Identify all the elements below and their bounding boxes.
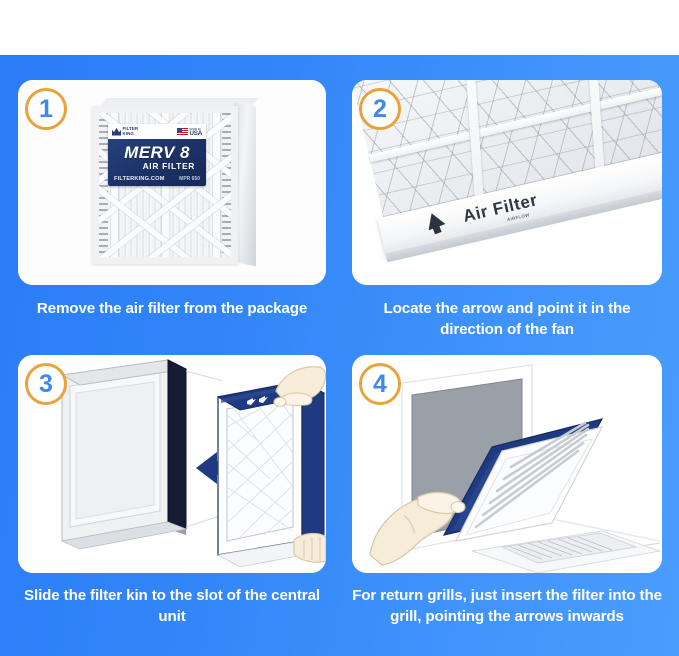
merv-8-filter-photo: FILTER KING MADE IN USA — [92, 98, 256, 266]
header-band — [0, 0, 679, 55]
website-text: FILTERKING.COM — [114, 176, 165, 182]
step-panel-2: Air Filter AIRFLOW 2 Locate the arrow an… — [352, 80, 662, 342]
filter-king-logo: FILTER KING — [112, 127, 138, 136]
step-panel-3: 3 Slide the filter kin to the slot of th… — [18, 355, 326, 635]
hand-lower-graphic — [294, 533, 326, 562]
step-1-caption: Remove the air filter from the package — [18, 298, 326, 319]
step-2-caption: Locate the arrow and point it in the dir… — [352, 298, 662, 340]
step-2-badge: 2 — [359, 88, 401, 130]
step-4-badge: 4 — [359, 363, 401, 405]
filter-product-label: FILTER KING MADE IN USA — [108, 124, 206, 186]
usa-flag-icon — [177, 128, 188, 135]
infographic-page: How to Install Your Air Filter — [0, 0, 679, 656]
filter-king-wordmark: FILTER KING — [123, 127, 139, 136]
grill-lower-panel — [472, 531, 660, 573]
brand-line-2: KING — [123, 132, 139, 136]
step-panel-4: 4 For return grills, just insert the fil… — [352, 355, 662, 645]
step-panel-1: FILTER KING MADE IN USA — [18, 80, 326, 342]
made-in-usa-badge: MADE IN USA — [177, 128, 202, 136]
central-unit-graphic — [62, 360, 186, 549]
mpr-rating-text: MPR 650 — [179, 176, 200, 182]
crown-icon — [112, 128, 121, 136]
filter-label-header: FILTER KING MADE IN USA — [108, 124, 206, 139]
air-filter-subtitle: AIR FILTER — [108, 161, 206, 171]
step-3-badge: 3 — [25, 363, 67, 405]
step-4-caption: For return grills, just insert the filte… — [352, 585, 662, 627]
usa-text: USA — [190, 132, 202, 136]
step-3-caption: Slide the filter kin to the slot of the … — [18, 585, 326, 627]
filter-front-face: FILTER KING MADE IN USA — [92, 106, 238, 264]
step-1-badge: 1 — [25, 88, 67, 130]
merv-rating-text: MERV 8 — [108, 143, 206, 163]
